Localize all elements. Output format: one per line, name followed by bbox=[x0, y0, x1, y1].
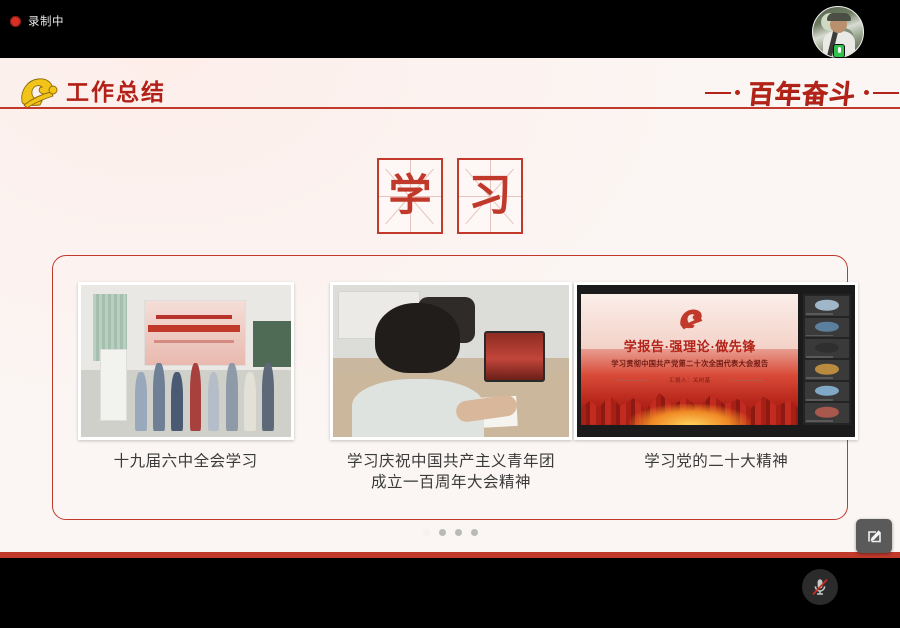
recording-indicator: 录制中 bbox=[10, 13, 64, 29]
photo-caption: 学习党的二十大精神 bbox=[644, 452, 788, 473]
annotate-pen-icon bbox=[865, 527, 884, 546]
inner-slide: 学报告·强理论·做先锋 学习贯彻中国共产党第二十次全国代表大会报告 汇报人：关树… bbox=[581, 294, 798, 425]
inner-slide-title: 学报告·强理论·做先锋 bbox=[581, 336, 798, 355]
slogan-group: 百年奋斗 bbox=[705, 74, 899, 111]
pagination-dot-3[interactable] bbox=[455, 529, 462, 536]
participant-tile bbox=[805, 296, 850, 315]
photo-card-list: 十九届六中全会学习 学习庆祝中国共产主义青年团 成立一百周 bbox=[53, 256, 849, 519]
photo-card-3: 学报告·强理论·做先锋 学习贯彻中国共产党第二十次全国代表大会报告 汇报人：关树… bbox=[594, 282, 838, 473]
character-box-1: 学 bbox=[377, 158, 443, 234]
photo-caption: 十九届六中全会学习 bbox=[114, 452, 258, 473]
mic-active-badge-icon bbox=[833, 44, 845, 58]
annotate-button[interactable] bbox=[856, 519, 892, 553]
left-dash-decoration bbox=[705, 90, 740, 95]
record-dot-icon bbox=[10, 16, 21, 27]
photo-card-2: 学习庆祝中国共产主义青年团 成立一百周年大会精神 bbox=[329, 282, 573, 494]
photo-card-1: 十九届六中全会学习 bbox=[64, 282, 308, 473]
character-glyph: 习 bbox=[469, 175, 512, 218]
mic-mute-button[interactable] bbox=[802, 569, 838, 605]
caption-line-2: 成立一百周年大会精神 bbox=[347, 473, 555, 494]
inner-slide-subtitle: 学习贯彻中国共产党第二十次全国代表大会报告 bbox=[581, 359, 798, 369]
party-emblem-icon bbox=[14, 72, 60, 112]
screen-share-viewer: 录制中 胡富铭的屏幕共享 工作总结 bbox=[0, 0, 900, 628]
shared-slide: 工作总结 百年奋斗 学 习 bbox=[0, 58, 900, 558]
right-dash-decoration bbox=[864, 90, 899, 95]
participant-tile bbox=[805, 403, 850, 422]
character-glyph: 学 bbox=[389, 175, 432, 218]
student-tablet-photo bbox=[330, 282, 572, 440]
page-title: 工作总结 bbox=[66, 73, 166, 107]
meeting-top-bar: 录制中 bbox=[0, 0, 900, 58]
pagination-dot-2[interactable] bbox=[439, 529, 446, 536]
participant-tile bbox=[805, 318, 850, 337]
slogan-text: 百年奋斗 bbox=[746, 74, 858, 111]
participant-tile bbox=[805, 339, 850, 358]
photo-caption: 学习庆祝中国共产主义青年团 成立一百周年大会精神 bbox=[347, 452, 555, 494]
caption-line-1: 学习庆祝中国共产主义青年团 bbox=[347, 452, 555, 473]
pagination-dot-1[interactable] bbox=[423, 529, 430, 536]
meeting-bottom-bar bbox=[0, 558, 900, 628]
inner-slide-presenter: 汇报人：关树基 bbox=[581, 376, 798, 384]
pagination-dot-4[interactable] bbox=[471, 529, 478, 536]
online-meeting-screenshot: 学报告·强理论·做先锋 学习贯彻中国共产党第二十次全国代表大会报告 汇报人：关树… bbox=[574, 282, 858, 440]
mic-muted-icon bbox=[809, 576, 831, 598]
pagination-dots[interactable] bbox=[0, 529, 900, 536]
participant-thumbnail-strip bbox=[803, 294, 852, 425]
participant-tile bbox=[805, 360, 850, 379]
study-character-boxes: 学 习 bbox=[0, 158, 900, 234]
recording-label: 录制中 bbox=[28, 13, 64, 29]
avatar[interactable] bbox=[812, 6, 868, 54]
inner-party-emblem-icon bbox=[677, 305, 705, 331]
avatar-hat bbox=[827, 13, 851, 21]
character-box-2: 习 bbox=[457, 158, 523, 234]
participant-tile bbox=[805, 382, 850, 401]
photo-panel: 十九届六中全会学习 学习庆祝中国共产主义青年团 成立一百周 bbox=[52, 255, 848, 520]
classroom-group-photo bbox=[78, 282, 294, 440]
